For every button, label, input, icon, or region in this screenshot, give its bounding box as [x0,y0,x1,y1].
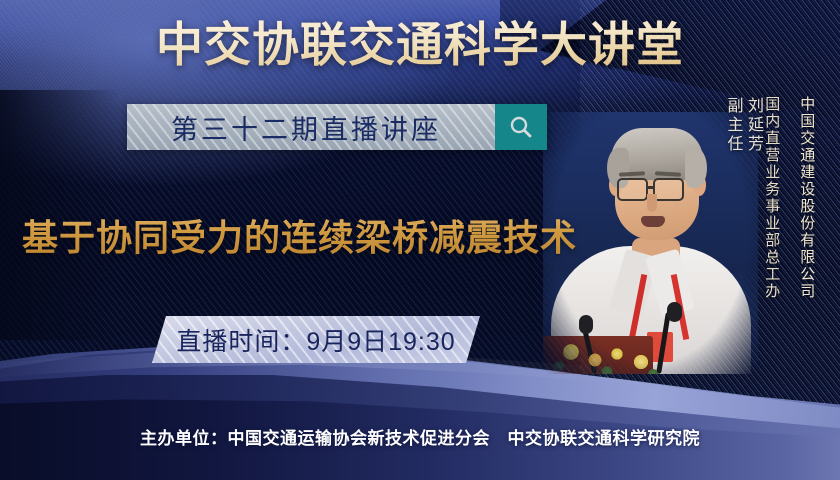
glasses-lens-right [653,178,684,201]
live-broadcast-poster: 中交协联交通科学大讲堂 第三十二期直播讲座 基于协同受力的连续梁桥减震技术 直播… [0,0,840,480]
speaker-nose [647,194,657,212]
organizer-footer: 主办单位：中国交通运输协会新技术促进分会 中交协联交通科学研究院 [0,424,840,449]
glasses-lens-left [617,178,648,201]
microphone-head-right [667,302,682,322]
speaker-hair-right [685,148,707,188]
speaker-department: 国内直营业务事业部总工办 [762,96,781,300]
search-icon [508,114,534,140]
episode-subtitle-bar: 第三十二期直播讲座 [127,104,547,150]
broadcast-time-badge: 直播时间：9月9日19:30 [152,316,480,363]
flower-arrangement [549,326,669,380]
search-button[interactable] [495,104,547,150]
glasses-bridge [648,186,655,189]
broadcast-time-label: 直播时间：9月9日19:30 [176,322,455,358]
page-title: 中交协联交通科学大讲堂 [0,18,840,72]
speaker-company: 中国交通建设股份有限公司 [797,96,816,300]
episode-subtitle: 第三十二期直播讲座 [127,108,495,147]
speaker-title: 副主任 [724,97,741,154]
lecture-headline: 基于协同受力的连续梁桥减震技术 [22,209,577,261]
speaker-name: 刘延芳 [745,97,762,154]
speaker-mouth [641,216,665,227]
speaker-name-title: 刘延芳副主任 [722,97,763,154]
